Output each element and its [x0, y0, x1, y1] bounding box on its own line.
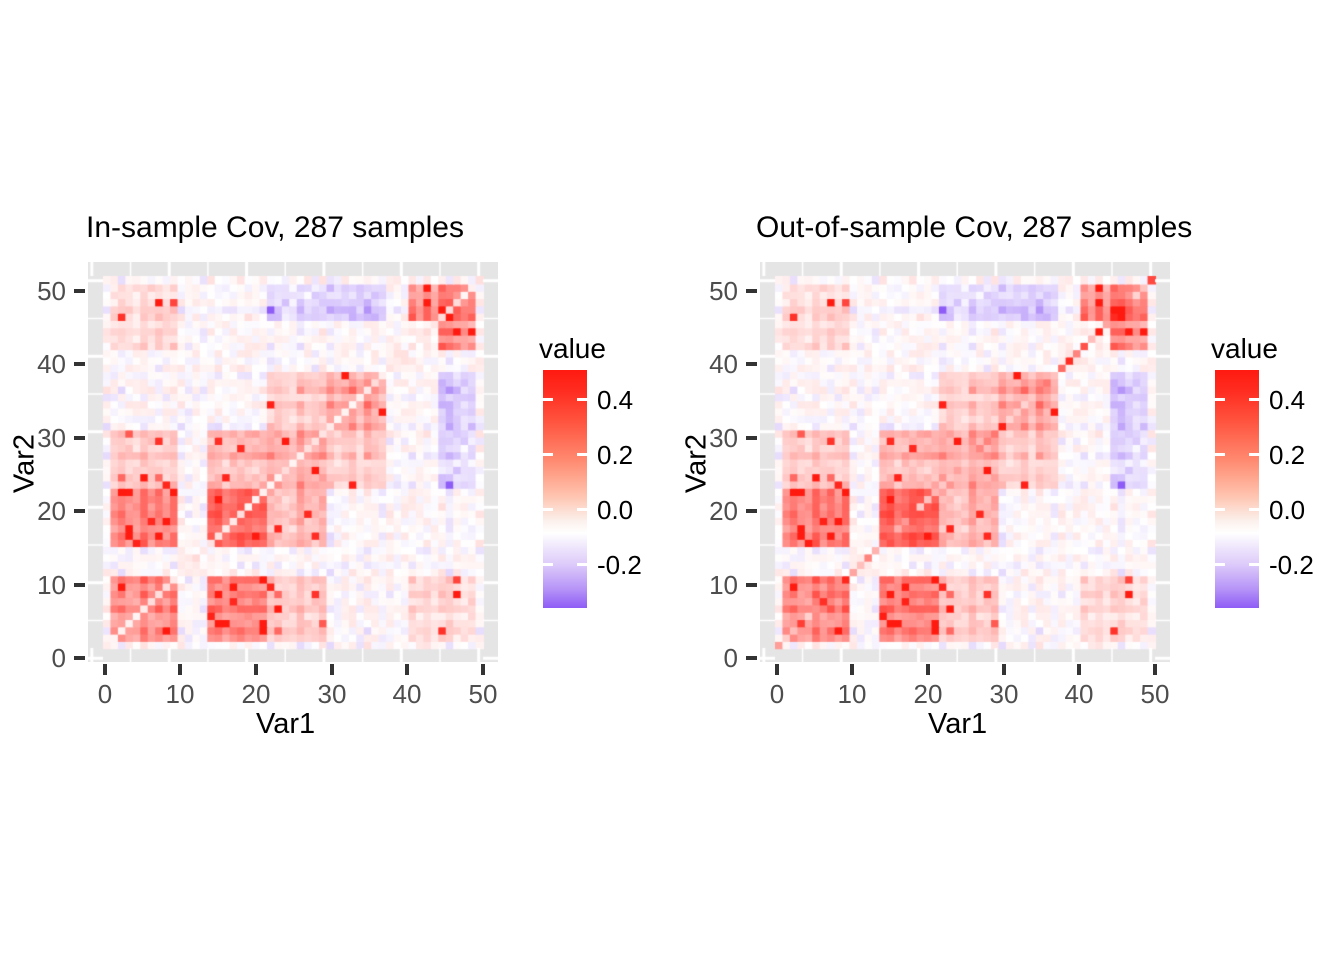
- legend-title-in-sample: value: [539, 333, 606, 365]
- x-tick-mark-20: [926, 664, 930, 675]
- y-tick-label-40: 40: [686, 349, 738, 380]
- legend-tick-0.2-left: [543, 453, 553, 456]
- x-tick-mark-0: [103, 664, 107, 675]
- y-tick-mark-0: [74, 656, 85, 660]
- y-tick-mark-0: [746, 656, 757, 660]
- legend-label-0.2: 0.2: [1269, 440, 1305, 471]
- legend-label-0.0: 0.0: [1269, 495, 1305, 526]
- plot-title-out-of-sample: Out-of-sample Cov, 287 samples: [756, 211, 1192, 245]
- legend-tick--0.2-left: [1215, 563, 1225, 566]
- x-tick-label-30: 30: [979, 679, 1029, 710]
- legend-title-out-of-sample: value: [1211, 333, 1278, 365]
- x-tick-label-50: 50: [1130, 679, 1180, 710]
- x-tick-mark-20: [254, 664, 258, 675]
- y-tick-mark-10: [74, 583, 85, 587]
- legend-label--0.2: -0.2: [597, 550, 642, 581]
- panel-in-sample: In-sample Cov, 287 samples 0 10 20 30 40…: [0, 0, 672, 960]
- x-tick-mark-40: [1077, 664, 1081, 675]
- legend-tick-0.4-left: [543, 398, 553, 401]
- y-axis-title-in-sample: Var2: [9, 419, 42, 509]
- plot-panel-in-sample: [88, 262, 498, 662]
- y-tick-label-0: 0: [686, 643, 738, 674]
- x-tick-label-40: 40: [1054, 679, 1104, 710]
- heatmap-canvas-in-sample: [88, 262, 498, 662]
- x-axis-title-in-sample: Var1: [256, 708, 315, 741]
- x-tick-mark-50: [1153, 664, 1157, 675]
- x-tick-mark-50: [481, 664, 485, 675]
- x-tick-mark-30: [1002, 664, 1006, 675]
- legend-label-0.4: 0.4: [1269, 385, 1305, 416]
- heatmap-canvas-out-of-sample: [760, 262, 1170, 662]
- x-tick-label-10: 10: [155, 679, 205, 710]
- y-tick-label-50: 50: [686, 276, 738, 307]
- legend-tick-0.4-right: [577, 398, 587, 401]
- y-tick-mark-20: [74, 509, 85, 513]
- x-tick-label-10: 10: [827, 679, 877, 710]
- y-tick-mark-30: [74, 436, 85, 440]
- legend-tick--0.2-right: [577, 563, 587, 566]
- y-tick-mark-30: [746, 436, 757, 440]
- legend-tick-0.0-right: [1249, 508, 1259, 511]
- x-tick-mark-30: [330, 664, 334, 675]
- legend-tick-0.2-right: [1249, 453, 1259, 456]
- legend-tick-0.4-right: [1249, 398, 1259, 401]
- legend-tick-0.0-right: [577, 508, 587, 511]
- x-tick-label-20: 20: [903, 679, 953, 710]
- y-tick-label-10: 10: [14, 570, 66, 601]
- x-tick-label-50: 50: [458, 679, 508, 710]
- y-tick-mark-50: [746, 289, 757, 293]
- y-tick-mark-10: [746, 583, 757, 587]
- y-tick-label-0: 0: [14, 643, 66, 674]
- legend-colorbar-in-sample: [543, 370, 587, 608]
- legend-tick--0.2-right: [1249, 563, 1259, 566]
- x-axis-title-out-of-sample: Var1: [928, 708, 987, 741]
- y-tick-mark-40: [74, 362, 85, 366]
- legend-tick-0.4-left: [1215, 398, 1225, 401]
- y-tick-label-40: 40: [14, 349, 66, 380]
- legend-colorbar-out-of-sample: [1215, 370, 1259, 608]
- y-tick-mark-20: [746, 509, 757, 513]
- x-tick-mark-10: [850, 664, 854, 675]
- x-tick-label-0: 0: [80, 679, 130, 710]
- legend-label--0.2: -0.2: [1269, 550, 1314, 581]
- x-tick-mark-40: [405, 664, 409, 675]
- y-axis-title-out-of-sample: Var2: [681, 419, 714, 509]
- x-tick-mark-0: [775, 664, 779, 675]
- figure-root: In-sample Cov, 287 samples 0 10 20 30 40…: [0, 0, 1344, 960]
- y-tick-mark-50: [74, 289, 85, 293]
- x-tick-mark-10: [178, 664, 182, 675]
- y-tick-label-10: 10: [686, 570, 738, 601]
- x-tick-label-40: 40: [382, 679, 432, 710]
- panel-out-of-sample: Out-of-sample Cov, 287 samples 0 10 20 3…: [672, 0, 1344, 960]
- plot-title-in-sample: In-sample Cov, 287 samples: [86, 211, 464, 245]
- legend-tick-0.0-left: [1215, 508, 1225, 511]
- plot-panel-out-of-sample: [760, 262, 1170, 662]
- legend-label-0.0: 0.0: [597, 495, 633, 526]
- legend-tick-0.2-right: [577, 453, 587, 456]
- y-tick-mark-40: [746, 362, 757, 366]
- legend-tick--0.2-left: [543, 563, 553, 566]
- legend-label-0.2: 0.2: [597, 440, 633, 471]
- x-tick-label-0: 0: [752, 679, 802, 710]
- x-tick-label-30: 30: [307, 679, 357, 710]
- legend-label-0.4: 0.4: [597, 385, 633, 416]
- x-tick-label-20: 20: [231, 679, 281, 710]
- legend-tick-0.2-left: [1215, 453, 1225, 456]
- legend-tick-0.0-left: [543, 508, 553, 511]
- y-tick-label-50: 50: [14, 276, 66, 307]
